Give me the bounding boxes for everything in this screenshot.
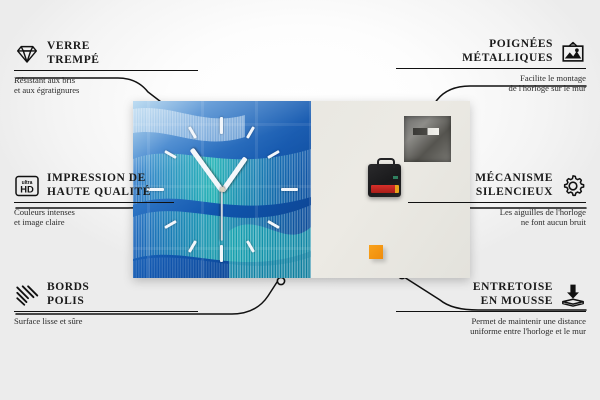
- picture-hanger-icon: [560, 39, 586, 65]
- feature-title: POIGNÉES MÉTALLIQUES: [462, 38, 553, 65]
- divider: [396, 311, 586, 312]
- second-hand: [221, 191, 223, 241]
- polished-edges-icon: [14, 282, 40, 308]
- divider: [14, 70, 198, 71]
- feature-subtitle: Permet de maintenir une distance uniform…: [396, 316, 586, 336]
- tick-3: [281, 188, 298, 191]
- title-line-1: ENTRETOISE: [473, 281, 553, 295]
- sub-line-2: et aux égratignures: [14, 85, 204, 95]
- tick-6: [220, 245, 223, 262]
- feature-bords-polis: BORDS POLIS Surface lisse et sûre: [14, 281, 204, 326]
- feature-title: VERRE TREMPÉ: [47, 40, 100, 67]
- divider: [14, 311, 198, 312]
- wire-dot-bords: [277, 277, 284, 284]
- hanger-slot: [413, 128, 439, 135]
- title-line-1: POIGNÉES: [462, 38, 553, 52]
- sub-line-2: uniforme entre l'horloge et le mur: [396, 326, 586, 336]
- tick-12: [220, 117, 223, 134]
- feature-subtitle: Surface lisse et sûre: [14, 316, 204, 326]
- feature-header: MÉCANISME SILENCIEUX: [396, 172, 586, 199]
- gear-icon: [560, 173, 586, 199]
- feature-title: ENTRETOISE EN MOUSSE: [473, 281, 553, 308]
- feature-mecanisme-silencieux: MÉCANISME SILENCIEUX Les aiguilles de l'…: [396, 172, 586, 227]
- title-line-2: POLIS: [47, 295, 89, 309]
- sub-line-2: et image claire: [14, 217, 204, 227]
- clock-hub: [220, 187, 225, 192]
- title-line-2: EN MOUSSE: [473, 295, 553, 309]
- divider: [14, 202, 174, 203]
- sub-line-1: Résistant aux bris: [14, 75, 204, 85]
- title-line-2: SILENCIEUX: [475, 186, 553, 200]
- feature-entretoise-en-mousse: ENTRETOISE EN MOUSSE Permet de maintenir…: [396, 281, 586, 336]
- feature-header: ENTRETOISE EN MOUSSE: [396, 281, 586, 308]
- feature-subtitle: Facilite le montage de l'horloge sur le …: [396, 73, 586, 93]
- feature-poignees-metalliques: POIGNÉES MÉTALLIQUES Facilite le montage…: [396, 38, 586, 93]
- mechanism-hook: [377, 158, 395, 168]
- feature-subtitle: Couleurs intenses et image claire: [14, 207, 204, 227]
- divider: [408, 202, 586, 203]
- foam-spacer-icon: [560, 282, 586, 308]
- hd-label: HD: [20, 183, 34, 194]
- diamond-icon: [14, 41, 40, 67]
- sub-line-1: Facilite le montage: [396, 73, 586, 83]
- ultra-hd-icon: ultra HD: [14, 173, 40, 199]
- title-line-1: BORDS: [47, 281, 89, 295]
- divider: [396, 68, 586, 69]
- feature-verre-trempe: VERRE TREMPÉ Résistant aux bris et aux é…: [14, 40, 204, 95]
- metal-hanger-plate: [404, 116, 451, 162]
- feature-header: POIGNÉES MÉTALLIQUES: [396, 38, 586, 65]
- feature-header: ultra HD IMPRESSION DE HAUTE QUALITÉ: [14, 172, 204, 199]
- feature-impression-haute-qualite: ultra HD IMPRESSION DE HAUTE QUALITÉ Cou…: [14, 172, 204, 227]
- orange-foam-spacer: [369, 245, 383, 259]
- feature-subtitle: Résistant aux bris et aux égratignures: [14, 75, 204, 95]
- feature-title: IMPRESSION DE HAUTE QUALITÉ: [47, 172, 151, 199]
- aa-battery: [371, 185, 398, 193]
- title-line-1: VERRE: [47, 40, 100, 54]
- sub-line-1: Les aiguilles de l'horloge: [396, 207, 586, 217]
- title-line-1: MÉCANISME: [475, 172, 553, 186]
- sub-line-2: ne font aucun bruit: [396, 217, 586, 227]
- title-line-2: HAUTE QUALITÉ: [47, 186, 151, 200]
- feature-title: BORDS POLIS: [47, 281, 89, 308]
- sub-line-1: Couleurs intenses: [14, 207, 204, 217]
- sub-line-1: Surface lisse et sûre: [14, 316, 204, 326]
- sub-line-2: de l'horloge sur le mur: [396, 83, 586, 93]
- feature-header: BORDS POLIS: [14, 281, 204, 308]
- title-line-1: IMPRESSION DE: [47, 172, 151, 186]
- title-line-2: TREMPÉ: [47, 54, 100, 68]
- feature-title: MÉCANISME SILENCIEUX: [475, 172, 553, 199]
- feature-subtitle: Les aiguilles de l'horloge ne font aucun…: [396, 207, 586, 227]
- sub-line-1: Permet de maintenir une distance: [396, 316, 586, 326]
- title-line-2: MÉTALLIQUES: [462, 52, 553, 66]
- product-infographic: VERRE TREMPÉ Résistant aux bris et aux é…: [0, 0, 600, 400]
- feature-header: VERRE TREMPÉ: [14, 40, 204, 67]
